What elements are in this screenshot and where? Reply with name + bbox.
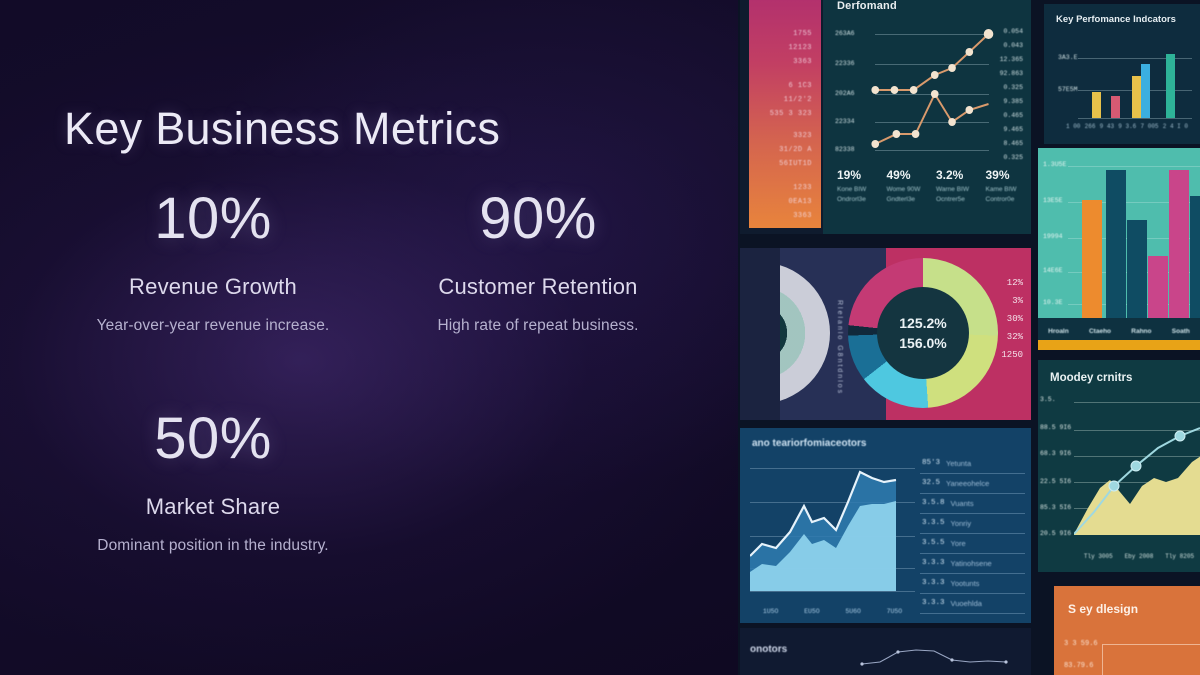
list-item: 3.3.5 Yonriy [920, 514, 1025, 534]
axis-label-left: 85.3 5I6 [1040, 504, 1071, 511]
collage-column-right: Key Perfomance Indcators 3A3.E 57E5M 1 0… [1036, 0, 1200, 675]
kpi-bar [1092, 92, 1101, 118]
list-item-value: 3.3.3 [922, 559, 945, 568]
rail-number: 535 3 323 [770, 110, 812, 118]
blue-chart-title: ano teariorfomiaceotors [752, 438, 866, 449]
axis-tick: 9 43 [1100, 123, 1114, 130]
axis-tick: Eby 2008 [1125, 552, 1154, 562]
kpi-bar [1132, 76, 1141, 118]
kpi-x-axis: 1 00 266 9 43 9 3.6 7 005 2 4 I 0 [1066, 123, 1188, 130]
axis-tick: 7 005 [1141, 123, 1159, 130]
axis-label-left: 19994 [1043, 233, 1063, 240]
rail-number: 0EA13 [788, 198, 812, 206]
legend-item: 30% [1001, 314, 1023, 324]
rail-number: 11/2'2 [784, 96, 812, 104]
stat-label: Warne BIW Ocntrer5e [936, 185, 974, 205]
donut-center-values: 125.2% 156.0% [848, 258, 998, 408]
stat-label: Wome 90W Gndterl3e [887, 185, 925, 205]
stat-value: 49% [887, 168, 925, 182]
kpi-bar [1111, 96, 1120, 118]
list-item-label: Yootunts [951, 579, 980, 588]
axis-tick: 266 [1085, 123, 1096, 130]
stat-label: Kame BIW Contror0e [986, 185, 1024, 205]
list-item: 3.5.8 Vuants [920, 494, 1025, 514]
ghost-pie-label: Rlelanlo G8ntdnlos [836, 300, 843, 395]
axis-label-left: 83.79.6 [1064, 662, 1093, 670]
rail-number: 12123 [788, 44, 812, 52]
rail-number: 3363 [793, 58, 812, 66]
metric-value: 50% [93, 410, 333, 468]
metric-label: Customer Retention [418, 274, 658, 300]
axis-label-left: 22.5 5I6 [1040, 478, 1071, 485]
list-item-label: Vuoehlda [951, 599, 982, 608]
axis-tick: 1U5O [763, 608, 779, 615]
ghost-pie-mask [740, 248, 780, 420]
rail-number: 3323 [793, 132, 812, 140]
strip-sparkline [858, 644, 1018, 670]
stat-item: 49% Wome 90W Gndterl3e [887, 168, 925, 205]
mood-plot-area [1074, 400, 1200, 535]
teal-bar [1169, 170, 1189, 318]
axis-tick: 9 3.6 [1118, 123, 1136, 130]
teal-bar [1148, 256, 1168, 318]
stat-item: 3.2% Warne BIW Ocntrer5e [936, 168, 974, 205]
list-item-value: 3.3.3 [922, 579, 945, 588]
performance-line-series [833, 22, 1025, 156]
metric-label: Revenue Growth [93, 274, 333, 300]
dashboard-collage: 1755 12123 3363 6 1C3 11/2'2 535 3 323 3… [738, 0, 1200, 675]
metric-description: High rate of repeat business. [418, 317, 658, 335]
rail-number: 1233 [793, 184, 812, 192]
collage-column-left: 1755 12123 3363 6 1C3 11/2'2 535 3 323 3… [738, 0, 1031, 675]
axis-label-left: 14E6E [1043, 267, 1063, 274]
rail-number: 3363 [793, 212, 812, 220]
performance-chart-body: Derfomand 263A6 22336 202A6 22334 82338 … [823, 0, 1031, 234]
kpi-bar-chart-card: Key Perfomance Indcators 3A3.E 57E5M 1 0… [1044, 4, 1200, 144]
monitors-strip-card: onotors [740, 628, 1031, 675]
metric-description: Dominant position in the industry. [93, 537, 333, 555]
axis-tick: Hroaln [1048, 328, 1069, 335]
teal-card-footer-bar [1038, 340, 1200, 350]
mood-chart-title: Moodey crnitrs [1050, 372, 1132, 384]
teal-bar-chart-card: 1.3U5E 13E5E 19994 14E6E 10.3E Hroaln Ct… [1038, 148, 1200, 348]
axis-tick: 1 00 [1066, 123, 1080, 130]
stat-item: 19% Kone BIW Ondrorl3e [837, 168, 875, 205]
axis-label-left: 1.3U5E [1043, 161, 1066, 168]
axis-label-left: 3.5. [1040, 396, 1056, 403]
list-item: 3.5.5 Yore [920, 534, 1025, 554]
performance-plot-area: 263A6 22336 202A6 22334 82338 0.054 0.04… [833, 22, 1025, 156]
metric-card-market-share: 50% Market Share Dominant position in th… [93, 410, 333, 555]
rail-number: 1755 [793, 30, 812, 38]
performance-chart-card: 1755 12123 3363 6 1C3 11/2'2 535 3 323 3… [740, 0, 1031, 234]
list-item-value: 32.5 [922, 479, 940, 488]
blue-plot-area [750, 460, 915, 598]
blue-area-chart-card: ano teariorfomiaceotors 1U5O EU5O [740, 428, 1031, 623]
axis-tick: Tly 8205 [1165, 552, 1194, 562]
axis-tick: EU5O [804, 608, 820, 615]
blue-chart-x-axis: 1U5O EU5O 5U6O 7U5O [750, 608, 915, 615]
legend-item: 12% [1001, 278, 1023, 288]
legend-item: 1250 [1001, 350, 1023, 360]
metric-label: Market Share [93, 494, 333, 520]
slide-root: Key Business Metrics 10% Revenue Growth … [0, 0, 1200, 675]
blue-chart-data-list: 85'3 Yetunta 32.5 Yaneeohelce 3.5.8 Vuan… [920, 454, 1025, 614]
stat-value: 19% [837, 168, 875, 182]
performance-stats-row: 19% Kone BIW Ondrorl3e 49% Wome 90W Gndt… [837, 168, 1023, 205]
page-title: Key Business Metrics [64, 103, 500, 155]
performance-chart-title: Derfomand [837, 0, 897, 12]
list-item-value: 3.5.5 [922, 539, 945, 548]
metric-description: Year-over-year revenue increase. [93, 317, 333, 335]
metric-value: 10% [93, 190, 333, 248]
teal-bar [1106, 170, 1126, 318]
teal-bar [1127, 220, 1147, 318]
axis-tick: Soath [1172, 328, 1190, 335]
kpi-plot-area: 3A3.E 57E5M 1 00 266 9 43 9 3.6 7 005 2 … [1056, 50, 1192, 128]
list-item: 32.5 Yaneeohelce [920, 474, 1025, 494]
strip-title: onotors [750, 644, 787, 655]
design-card-plot-frame [1102, 644, 1200, 675]
left-content-pane: Key Business Metrics 10% Revenue Growth … [0, 0, 738, 675]
list-item: 3.3.3 Vuoehlda [920, 594, 1025, 614]
donut-legend: 12% 3% 30% 32% 1250 [1001, 278, 1023, 368]
list-item-label: Yetunta [946, 459, 971, 468]
axis-label-left: 88.5 9I6 [1040, 424, 1071, 431]
kpi-bar [1166, 54, 1175, 118]
list-item-value: 3.5.8 [922, 499, 945, 508]
rail-number: 56IUT1D [779, 160, 812, 168]
axis-tick: Tly 3005 [1084, 552, 1113, 562]
stat-value: 39% [986, 168, 1024, 182]
metric-card-revenue-growth: 10% Revenue Growth Year-over-year revenu… [93, 190, 333, 335]
axis-label-left: 20.5 9I6 [1040, 530, 1071, 537]
axis-tick: 2 4 I 0 [1163, 123, 1188, 130]
axis-label-left: 57E5M [1058, 86, 1078, 93]
donut-center-primary: 125.2% [899, 313, 946, 333]
kpi-bar [1141, 64, 1150, 118]
design-summary-card: S ey dlesign 3 3 59.6 83.79.6 [1054, 586, 1200, 675]
teal-bar [1190, 196, 1200, 318]
rail-number: 31/2D A [779, 146, 812, 154]
stat-item: 39% Kame BIW Contror0e [986, 168, 1024, 205]
list-item: 3.3.3 Yootunts [920, 574, 1025, 594]
list-item-label: Vuants [951, 499, 974, 508]
mood-trend-card: Moodey crnitrs [1038, 360, 1200, 572]
axis-tick: 7U5O [887, 608, 903, 615]
list-item-value: 3.3.5 [922, 519, 945, 528]
list-item: 85'3 Yetunta [920, 454, 1025, 474]
list-item-value: 3.3.3 [922, 599, 945, 608]
axis-label-left: 3A3.E [1058, 54, 1078, 61]
teal-bar [1082, 200, 1102, 318]
list-item: 3.3.3 Yatinohsene [920, 554, 1025, 574]
list-item-label: Yore [951, 539, 966, 548]
blue-area-series [750, 460, 915, 598]
axis-tick: Ctaeho [1089, 328, 1111, 335]
list-item-label: Yonriy [951, 519, 972, 528]
axis-label-left: 68.3 9I6 [1040, 450, 1071, 457]
legend-item: 32% [1001, 332, 1023, 342]
axis-label-left: 10.3E [1043, 299, 1063, 306]
stat-label: Kone BIW Ondrorl3e [837, 185, 875, 205]
mood-x-axis: Tly 3005 Eby 2008 Tly 8205 [1078, 552, 1200, 562]
list-item-value: 85'3 [922, 459, 940, 468]
axis-label-left: 3 3 59.6 [1064, 640, 1098, 648]
axis-label-left: 13E5E [1043, 197, 1063, 204]
rail-number: 6 1C3 [788, 82, 812, 90]
gridline [1078, 118, 1192, 119]
mood-area-series [1074, 400, 1200, 535]
design-card-title: S ey dlesign [1068, 602, 1138, 616]
donut-chart-card: Rlelanlo G8ntdnlos 125.2% 156.0% 12% 3% … [740, 248, 1031, 420]
gridline [1068, 166, 1200, 167]
axis-tick: Rahno [1131, 328, 1151, 335]
stat-value: 3.2% [936, 168, 974, 182]
kpi-chart-title: Key Perfomance Indcators [1056, 14, 1176, 27]
donut-center-secondary: 156.0% [899, 333, 946, 353]
list-item-label: Yatinohsene [951, 559, 992, 568]
legend-item: 3% [1001, 296, 1023, 306]
metric-card-customer-retention: 90% Customer Retention High rate of repe… [418, 190, 658, 335]
gradient-rail: 1755 12123 3363 6 1C3 11/2'2 535 3 323 3… [749, 0, 821, 228]
metric-value: 90% [418, 190, 658, 248]
list-item-label: Yaneeohelce [946, 479, 989, 488]
axis-tick: 5U6O [845, 608, 861, 615]
